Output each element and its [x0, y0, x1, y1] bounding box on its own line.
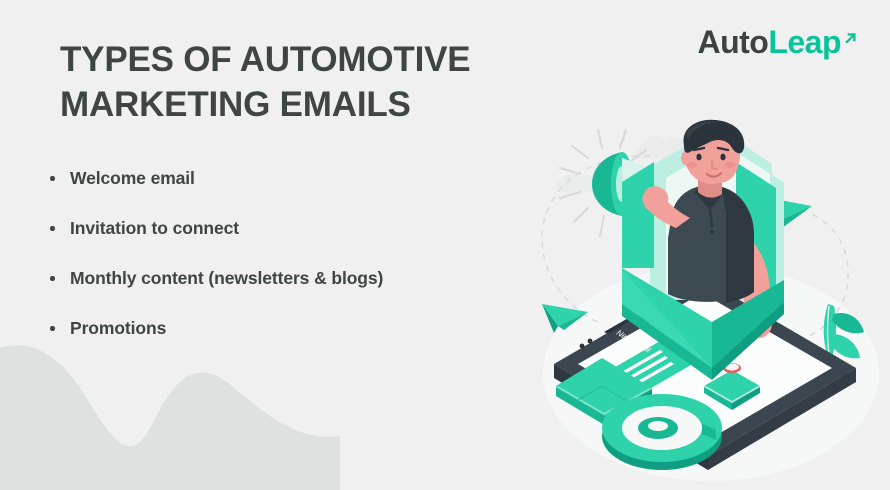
list-item-label: Promotions: [70, 318, 166, 338]
page-title: Types of Automotive Marketing Emails: [60, 38, 580, 128]
at-symbol-icon: [602, 394, 722, 470]
list-item-label: Invitation to connect: [70, 218, 239, 238]
list-item: Invitation to connect: [46, 218, 566, 239]
list-item-label: Welcome email: [70, 168, 195, 188]
slide-canvas: AutoLeap Types of Automotive Marketing E…: [0, 0, 890, 490]
email-marketing-illustration: New email: [526, 118, 882, 484]
list-item: Welcome email: [46, 168, 566, 189]
list-item: Monthly content (newsletters & blogs): [46, 268, 566, 289]
brand-logo: AutoLeap: [697, 26, 858, 58]
brand-name-secondary: Leap: [768, 24, 841, 60]
brand-name-primary: Auto: [697, 24, 768, 60]
bullet-list: Welcome email Invitation to connect Mont…: [46, 168, 566, 368]
list-item: Promotions: [46, 318, 566, 339]
list-item-label: Monthly content (newsletters & blogs): [70, 268, 383, 288]
arrow-up-right-icon: [842, 20, 858, 52]
